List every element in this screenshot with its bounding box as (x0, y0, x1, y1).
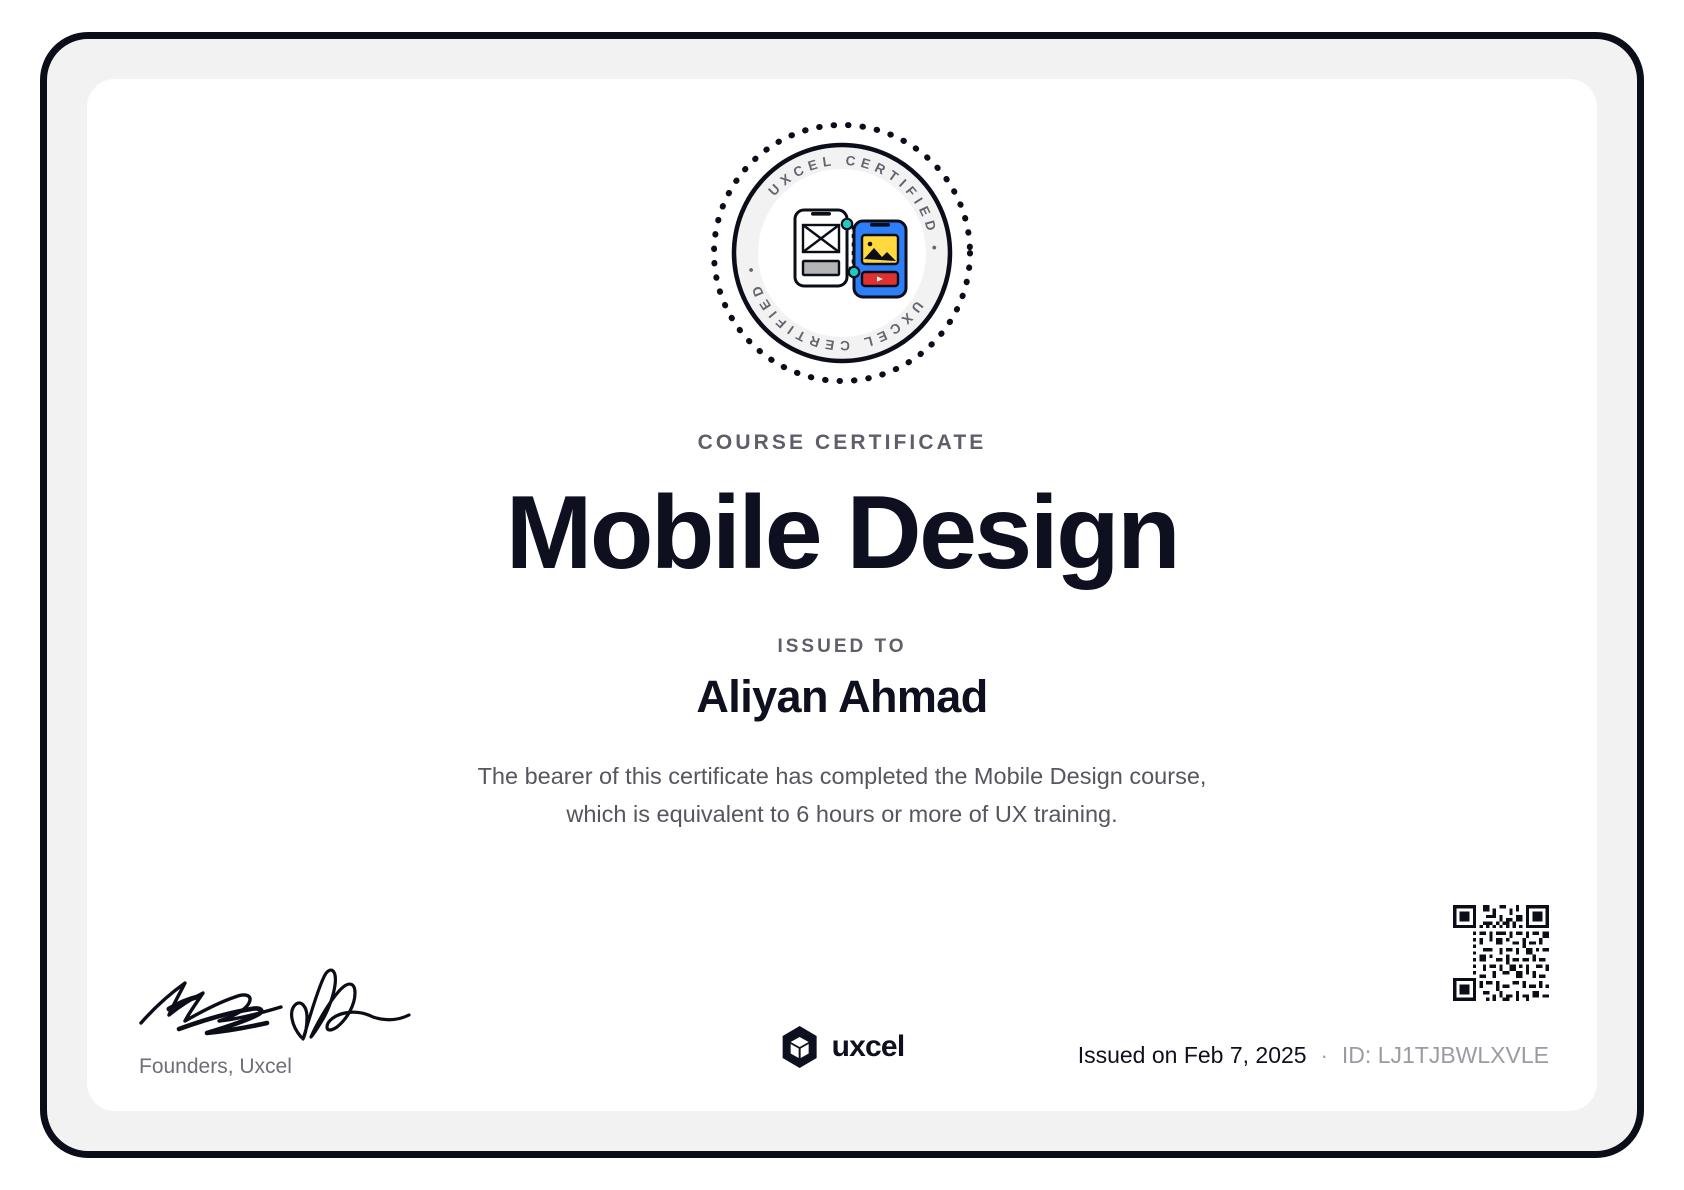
signature-caption: Founders, Uxcel (139, 1055, 465, 1079)
uxcel-hexagon-cube-logo-icon (780, 1025, 820, 1069)
recipient-name: Aliyan Ahmad (87, 671, 1597, 723)
issue-meta: Issued on Feb 7, 2025 · ID: LJ1TJBWLXVLE (1078, 1042, 1549, 1069)
uxcel-brand: uxcel (780, 1025, 905, 1069)
certificate-id: ID: LJ1TJBWLXVLE (1342, 1042, 1549, 1069)
issued-to-label: ISSUED TO (87, 636, 1597, 658)
eyebrow-label: COURSE CERTIFICATE (87, 431, 1597, 455)
qr-code-icon (1453, 905, 1549, 1001)
certificate-frame: UXCEL CERTIFIED • UXCEL CERTIFIED • (40, 32, 1644, 1158)
uxcel-wordmark: uxcel (832, 1030, 905, 1064)
verification-qr-code[interactable] (1453, 905, 1549, 1001)
meta-separator: · (1321, 1043, 1328, 1069)
signature-block: Founders, Uxcel (135, 951, 465, 1079)
issued-on-date: Issued on Feb 7, 2025 (1078, 1042, 1307, 1069)
description-line-2: which is equivalent to 6 hours or more o… (392, 795, 1292, 833)
founders-signature-icon (135, 951, 425, 1043)
certification-badge: UXCEL CERTIFIED • UXCEL CERTIFIED • (706, 117, 978, 389)
description-line-1: The bearer of this certificate has compl… (392, 757, 1292, 795)
certificate-description: The bearer of this certificate has compl… (392, 757, 1292, 833)
certificate-card: UXCEL CERTIFIED • UXCEL CERTIFIED • (87, 79, 1597, 1111)
course-title: Mobile Design (87, 479, 1597, 588)
certificate-footer: Founders, Uxcel uxcel (87, 881, 1597, 1111)
